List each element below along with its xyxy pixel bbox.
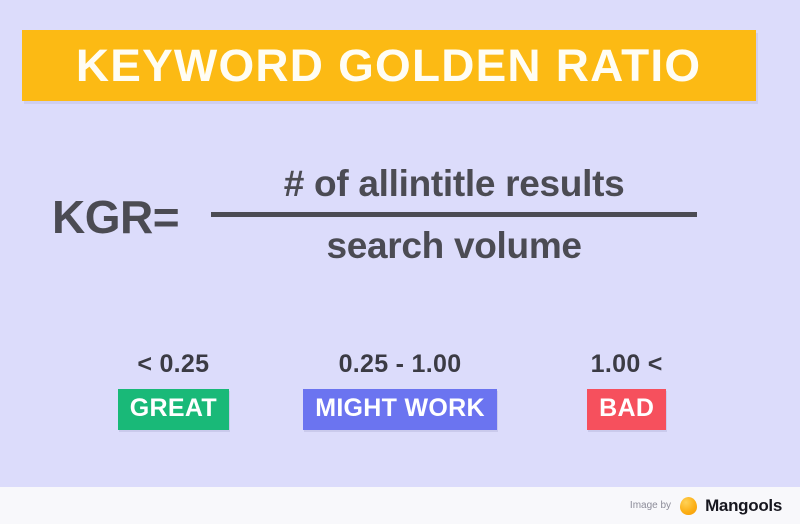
status-badge-great: GREAT <box>118 389 229 430</box>
footer-attribution-bar: Image by Mangools <box>0 487 800 524</box>
page-title: KEYWORD GOLDEN RATIO <box>76 43 701 88</box>
fraction-denominator: search volume <box>326 217 581 268</box>
formula-fraction: # of allintitle results search volume <box>211 163 697 267</box>
range-column-might-work: 0.25 - 1.00 MIGHT WORK <box>287 352 514 430</box>
status-badge-might-work: MIGHT WORK <box>303 389 497 430</box>
status-badge-bad: BAD <box>587 389 666 430</box>
title-banner: KEYWORD GOLDEN RATIO <box>22 30 756 101</box>
kgr-range-legend: < 0.25 GREAT 0.25 - 1.00 MIGHT WORK 1.00… <box>60 352 740 430</box>
formula-left-hand-side: KGR= <box>52 194 179 240</box>
footer-credit-label: Image by <box>630 501 671 511</box>
keyword-golden-ratio-infographic: KEYWORD GOLDEN RATIO KGR= # of allintitl… <box>0 0 800 524</box>
fraction-numerator: # of allintitle results <box>284 163 625 212</box>
range-column-great: < 0.25 GREAT <box>60 352 287 430</box>
range-value-bad: 1.00 < <box>591 352 663 377</box>
range-value-might-work: 0.25 - 1.00 <box>339 352 462 377</box>
range-column-bad: 1.00 < BAD <box>513 352 740 430</box>
mango-logo-icon <box>680 497 697 515</box>
kgr-formula: KGR= # of allintitle results search volu… <box>0 163 800 267</box>
footer-brand-name: Mangools <box>705 497 782 514</box>
range-value-great: < 0.25 <box>137 352 209 377</box>
